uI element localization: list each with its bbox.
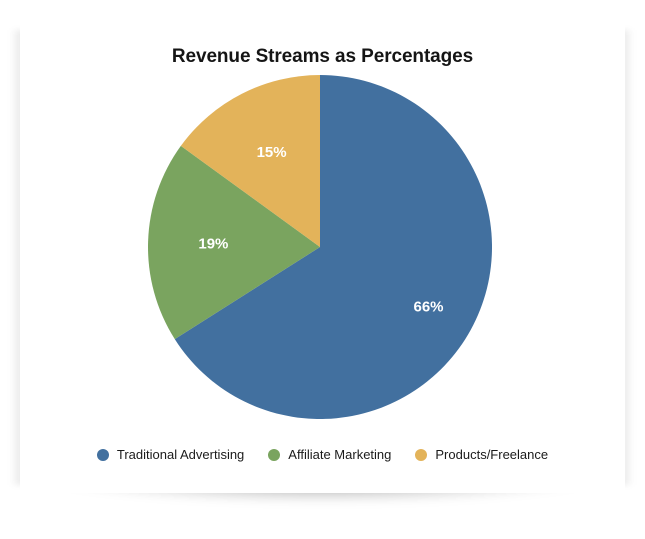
chart-card: Revenue Streams as Percentages 66%19%15%… — [20, 10, 625, 493]
chart-title: Revenue Streams as Percentages — [20, 46, 625, 68]
legend-item[interactable]: Products/Freelance — [415, 447, 548, 462]
pie-slice-label: 15% — [257, 144, 287, 161]
page-root: Revenue Streams as Percentages 66%19%15%… — [0, 0, 645, 539]
legend-item-label: Affiliate Marketing — [288, 447, 391, 462]
legend-item[interactable]: Traditional Advertising — [97, 447, 244, 462]
legend-item[interactable]: Affiliate Marketing — [268, 447, 391, 462]
pie-chart-svg: 66%19%15% — [148, 75, 492, 419]
legend-item-label: Traditional Advertising — [117, 447, 244, 462]
legend-item-label: Products/Freelance — [435, 447, 548, 462]
pie-slice-label: 66% — [413, 299, 443, 316]
legend-swatch-icon — [97, 449, 109, 461]
chart-legend: Traditional AdvertisingAffiliate Marketi… — [20, 447, 625, 462]
pie-slice-label: 19% — [198, 236, 228, 253]
legend-swatch-icon — [415, 449, 427, 461]
pie-chart: 66%19%15% — [148, 75, 492, 419]
legend-swatch-icon — [268, 449, 280, 461]
